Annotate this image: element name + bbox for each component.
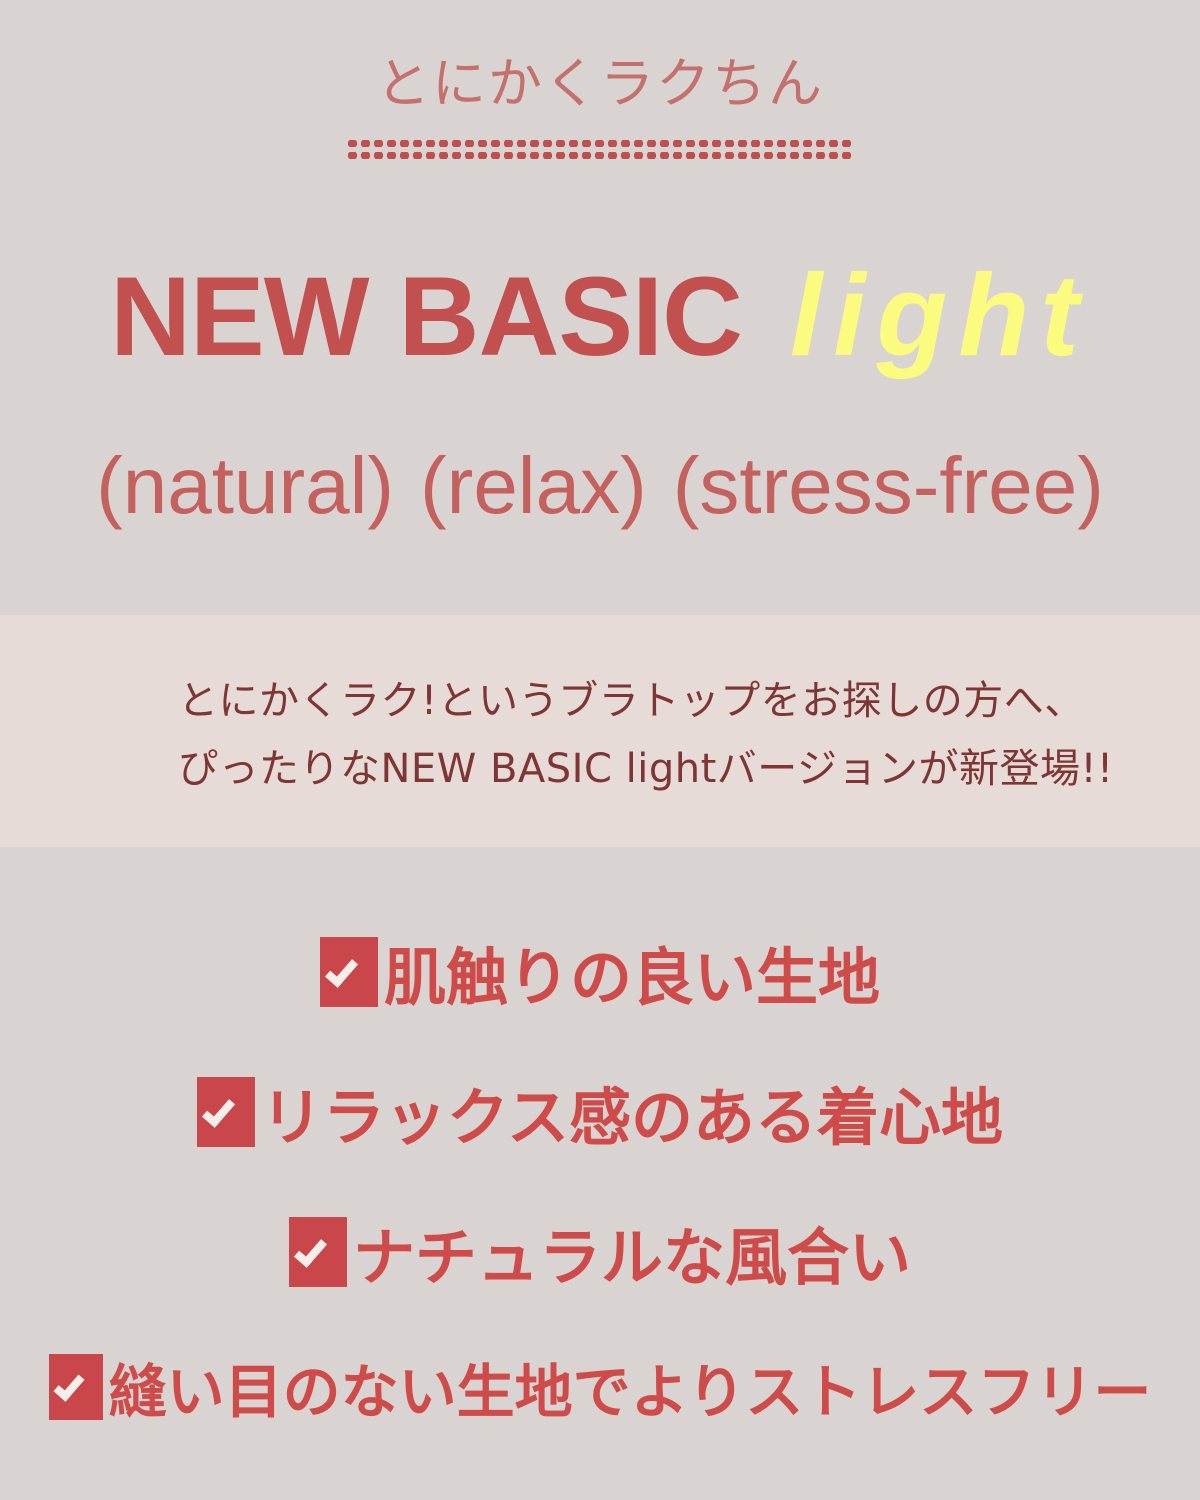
- checklist-item: 縫い目のない生地でよりストレスフリー: [0, 1345, 1200, 1429]
- checklist-item: リラックス感のある着心地: [0, 1067, 1200, 1157]
- checklist-item: 肌触りの良い生地: [0, 927, 1200, 1017]
- checkbox-checked-icon: [49, 1354, 103, 1420]
- tagline-relax: (relax): [420, 441, 647, 530]
- check-mark-icon: [53, 1369, 84, 1401]
- description-line-1: とにかくラク!というブラトップをお探しの方へ、: [178, 667, 1138, 735]
- dotted-divider: [346, 140, 854, 170]
- checklist-item-label: 縫い目のない生地でよりストレスフリー: [109, 1345, 1152, 1429]
- dotted-divider-row-top: [346, 140, 854, 147]
- description-section: とにかくラク!というブラトップをお探しの方へ、 ぴったりなNEW BASIC l…: [0, 615, 1200, 847]
- hero-section: とにかくラクちん NEW BASIClight (natural)(relax)…: [0, 0, 1200, 615]
- eyebrow-text: とにかくラクちん: [0, 56, 1200, 113]
- title-main-text: NEW BASIC: [110, 254, 742, 379]
- page-title: NEW BASIClight: [0, 248, 1200, 382]
- checklist-item: ナチュラルな風合い: [0, 1207, 1200, 1297]
- tagline-stress-free: (stress-free): [673, 441, 1104, 530]
- tagline-natural: (natural): [96, 441, 394, 530]
- checklist-item-label: 肌触りの良い生地: [384, 927, 880, 1017]
- promo-poster: とにかくラクちん NEW BASIClight (natural)(relax)…: [0, 0, 1200, 1500]
- check-mark-icon: [325, 953, 358, 988]
- dotted-divider-row-bottom: [346, 152, 854, 159]
- checkbox-checked-icon: [197, 1077, 255, 1147]
- checklist-section: 肌触りの良い生地 リラックス感のある着心地 ナチュラルな風合い 縫い目のない生地…: [0, 847, 1200, 1500]
- title-accent-text: light: [790, 250, 1090, 380]
- description-line-2: ぴったりなNEW BASIC lightバージョンが新登場!!: [178, 735, 1138, 803]
- checklist-item-label: ナチュラルな風合い: [353, 1207, 911, 1297]
- checkbox-checked-icon: [289, 1217, 347, 1287]
- checklist-item-label: リラックス感のある着心地: [261, 1067, 1003, 1157]
- checkbox-checked-icon: [320, 937, 378, 1007]
- tagline: (natural)(relax)(stress-free): [0, 440, 1200, 532]
- check-mark-icon: [294, 1233, 327, 1268]
- description-text-block: とにかくラク!というブラトップをお探しの方へ、 ぴったりなNEW BASIC l…: [178, 667, 1138, 803]
- check-mark-icon: [202, 1093, 235, 1128]
